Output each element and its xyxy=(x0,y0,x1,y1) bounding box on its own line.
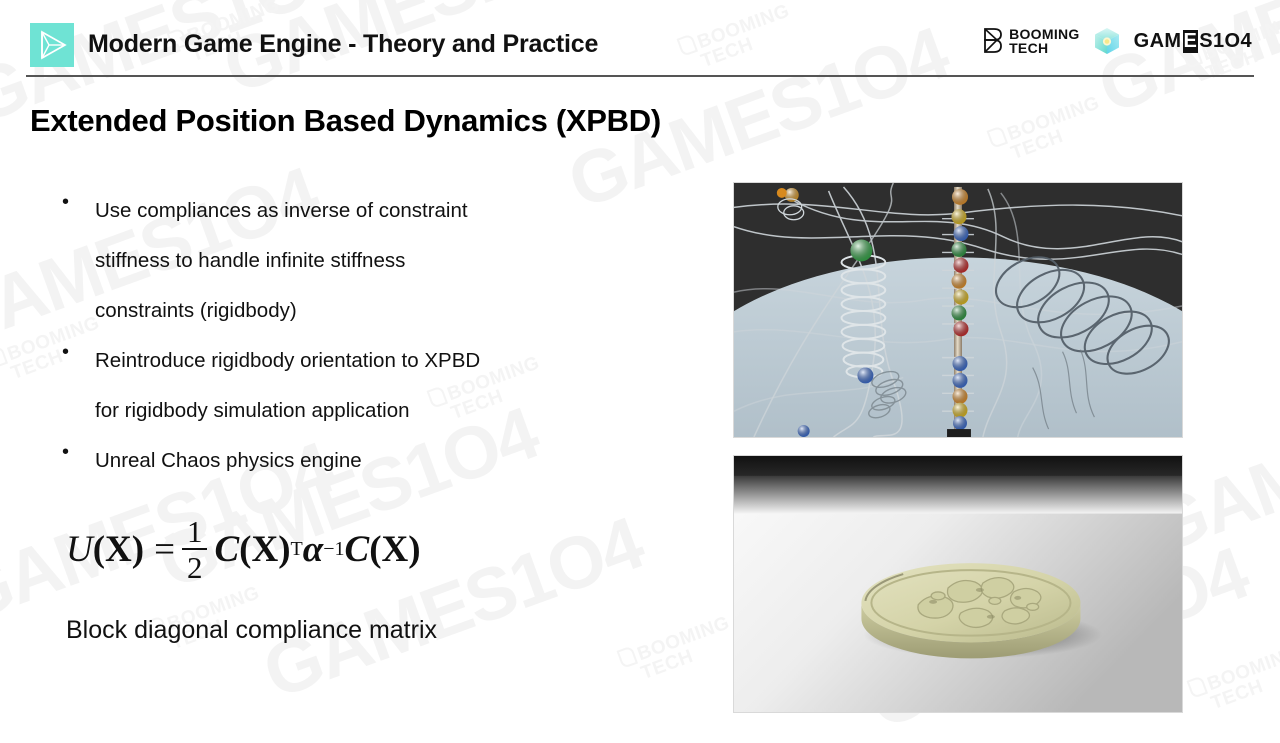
bullet-line: Unreal Chaos physics engine xyxy=(95,436,698,486)
bullet-line: Use compliances as inverse of constraint xyxy=(95,186,698,236)
booming-tech-logo: BOOMING TECH xyxy=(983,27,1080,55)
play-triangle-logo-icon xyxy=(30,23,74,67)
games104-post: S1O4 xyxy=(1199,30,1252,53)
formula-alpha: α xyxy=(303,528,323,571)
bullet-line: for rigidbody simulation application xyxy=(95,386,698,436)
booming-b-mark-icon xyxy=(983,27,1005,55)
slide: GAMES1O4 GAMES1O4 GAMES1O4 GAMES1O4 GAME… xyxy=(0,0,1280,743)
page-title: Extended Position Based Dynamics (XPBD) xyxy=(30,103,661,139)
bullet-line: stiffness to handle infinite stiffness xyxy=(95,236,698,286)
bullet-dot-icon: • xyxy=(62,436,69,468)
formula-equals: = xyxy=(154,528,175,571)
formula-c2: C xyxy=(345,528,370,571)
formula-c1: C xyxy=(214,528,239,571)
list-item: • Unreal Chaos physics engine xyxy=(58,436,698,486)
header-divider xyxy=(26,75,1254,77)
header-brand-group: BOOMING TECH xyxy=(983,26,1252,56)
formula-alpha-exponent: −1 xyxy=(323,538,344,561)
cube-icon xyxy=(1092,26,1122,56)
games104-pre: GAM xyxy=(1134,30,1182,53)
energy-formula: U(X) = 1 2 C(X)T α−1 C(X) xyxy=(66,516,421,583)
bullet-line: Reintroduce rigidbody orientation to XPB… xyxy=(95,336,698,386)
booming-tech-text: BOOMING TECH xyxy=(1009,27,1080,55)
formula-one-half: 1 2 xyxy=(182,516,208,583)
formula-lhs-arg: (X) xyxy=(93,528,144,571)
formula-c1-arg: (X) xyxy=(239,528,290,571)
slide-header: Modern Game Engine - Theory and Practice… xyxy=(0,0,1280,78)
watermark-booming: BOOMINGTECH xyxy=(1187,641,1280,719)
bullet-line: constraints (rigidbody) xyxy=(95,286,698,336)
header-title: Modern Game Engine - Theory and Practice xyxy=(88,30,598,59)
bullet-dot-icon: • xyxy=(62,186,69,218)
compliance-disc-render-image xyxy=(733,455,1183,713)
games104-mid: E xyxy=(1183,30,1199,53)
list-item: • Use compliances as inverse of constrai… xyxy=(58,186,698,336)
formula-caption: Block diagonal compliance matrix xyxy=(66,616,437,645)
games104-logo: GAMES1O4 xyxy=(1134,30,1252,53)
booming-line-2: TECH xyxy=(1009,41,1080,55)
booming-line-1: BOOMING xyxy=(1009,27,1080,41)
formula-denominator: 2 xyxy=(182,550,208,583)
formula-c2-arg: (X) xyxy=(369,528,420,571)
formula-numerator: 1 xyxy=(182,516,208,548)
watermark-booming: BOOMINGTECH xyxy=(617,611,739,689)
watermark-booming: BOOMINGTECH xyxy=(987,91,1109,169)
formula-lhs-function: U xyxy=(66,528,93,571)
bullet-list: • Use compliances as inverse of constrai… xyxy=(58,186,698,486)
bullet-dot-icon: • xyxy=(62,336,69,368)
list-item: • Reintroduce rigidbody orientation to X… xyxy=(58,336,698,436)
springs-rigidbody-simulation-image xyxy=(733,182,1183,438)
formula-transpose: T xyxy=(291,538,303,561)
